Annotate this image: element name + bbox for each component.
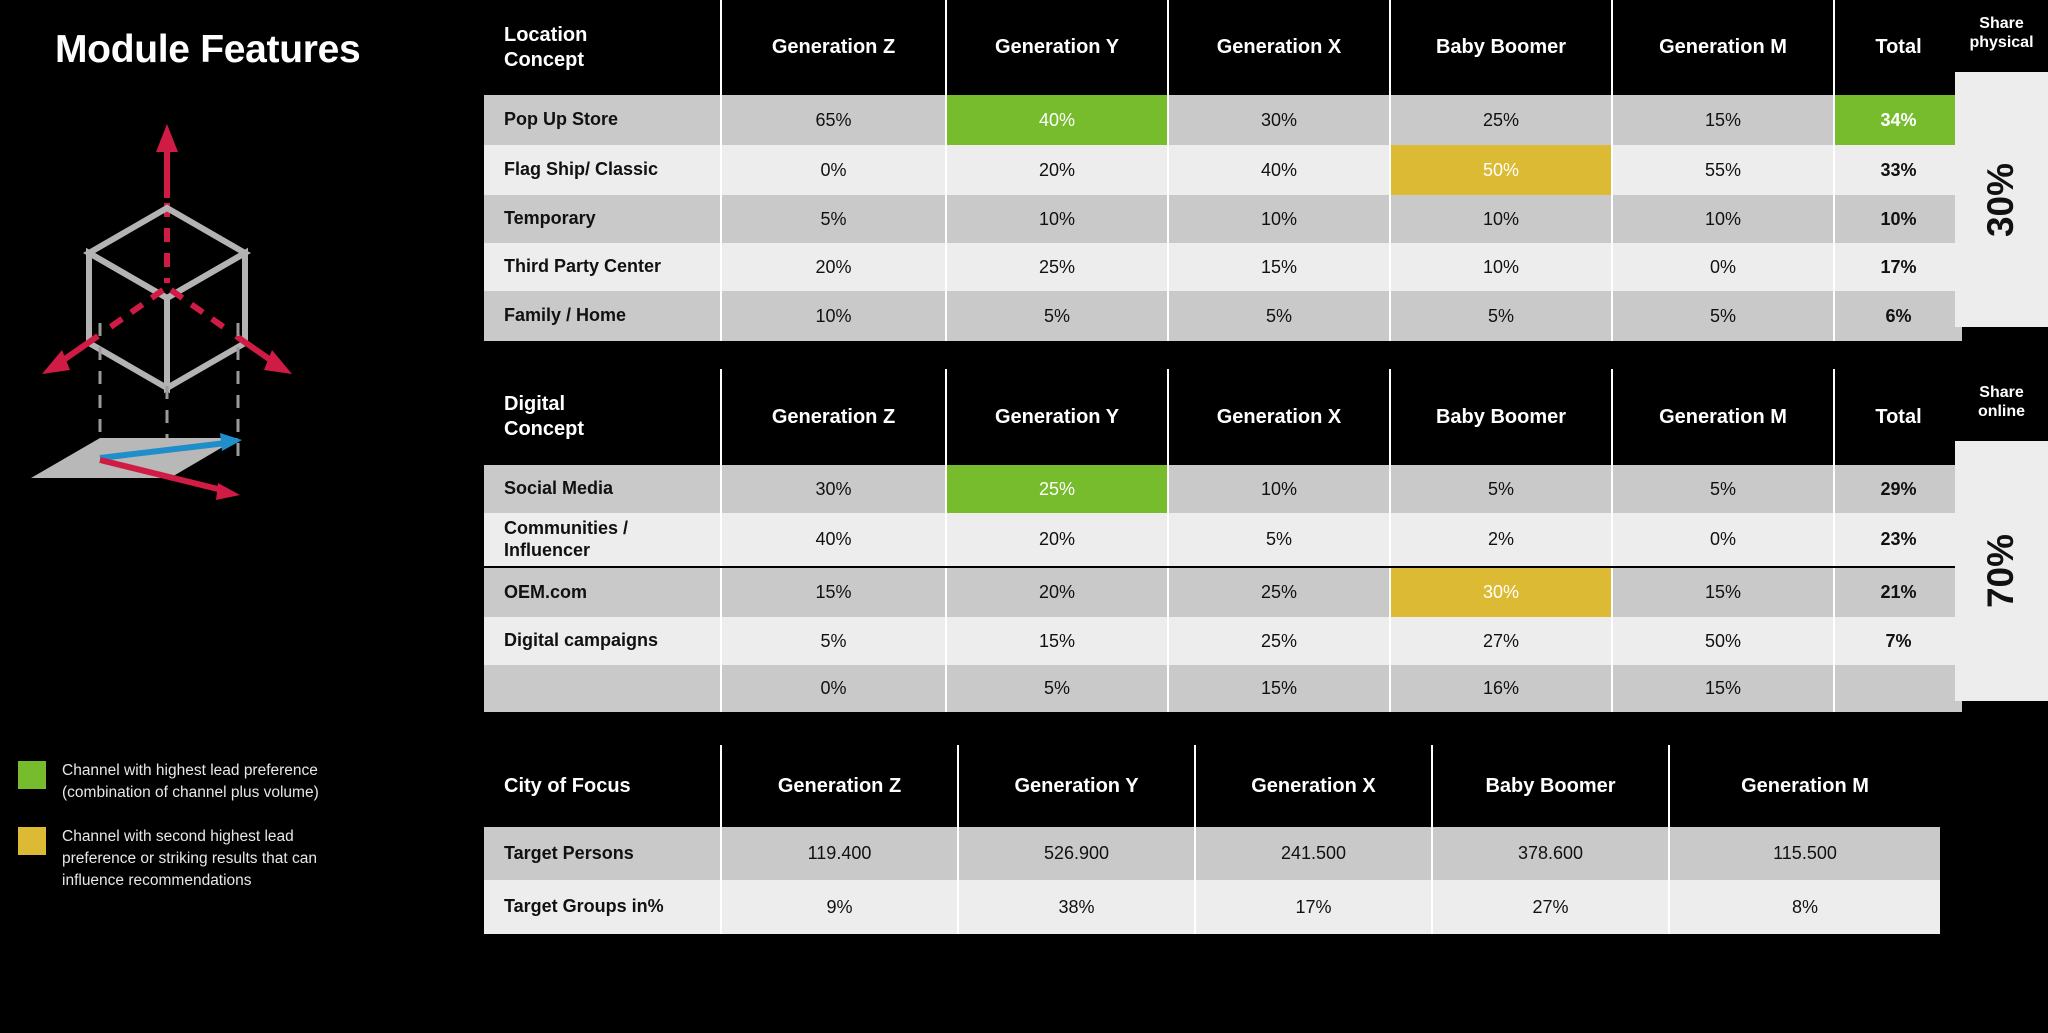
header-baby-boomer: Baby Boomer: [1390, 369, 1612, 465]
table-header-row: LocationConcept Generation Z Generation …: [484, 0, 1962, 95]
cell-generation-z: 65%: [721, 95, 946, 145]
row-label: Target Groups in%: [484, 880, 721, 934]
cell-total: 6%: [1834, 291, 1962, 341]
cell-generation-x: 241.500: [1195, 827, 1432, 880]
cell-baby-boomer: 50%: [1390, 145, 1612, 195]
cell-baby-boomer: 10%: [1390, 195, 1612, 243]
cell-generation-z: 119.400: [721, 827, 958, 880]
cell-generation-z: 0%: [721, 145, 946, 195]
table-row: 0% 5% 15% 16% 15%: [484, 665, 1962, 712]
cell-generation-y: 20%: [946, 567, 1168, 617]
isometric-module-cube-diagram: [30, 118, 330, 638]
cell-generation-x: 5%: [1168, 513, 1390, 567]
row-label: Third Party Center: [484, 243, 721, 291]
legend-swatch-green: [18, 761, 46, 789]
header-generation-x: Generation X: [1195, 745, 1432, 827]
header-generation-x: Generation X: [1168, 0, 1390, 95]
header-generation-y: Generation Y: [946, 0, 1168, 95]
header-baby-boomer: Baby Boomer: [1432, 745, 1669, 827]
cell-baby-boomer: 378.600: [1432, 827, 1669, 880]
cell-generation-x: 10%: [1168, 465, 1390, 513]
cell-generation-x: 25%: [1168, 567, 1390, 617]
table-row: Digital campaigns 5% 15% 25% 27% 50% 7%: [484, 617, 1962, 665]
row-label: Pop Up Store: [484, 95, 721, 145]
cell-total: 7%: [1834, 617, 1962, 665]
header-generation-y: Generation Y: [958, 745, 1195, 827]
cell-generation-y: 526.900: [958, 827, 1195, 880]
cube-left-face: [89, 253, 167, 388]
cell-generation-z: 10%: [721, 291, 946, 341]
cell-generation-y: 25%: [946, 465, 1168, 513]
axis-arrow-right-head: [264, 350, 292, 374]
table-row: Temporary 5% 10% 10% 10% 10% 10%: [484, 195, 1962, 243]
cell-generation-m: 0%: [1612, 243, 1834, 291]
header-total: Total: [1834, 0, 1962, 95]
cell-generation-x: 15%: [1168, 665, 1390, 712]
header-generation-z: Generation Z: [721, 369, 946, 465]
table-row: Social Media 30% 25% 10% 5% 5% 29%: [484, 465, 1962, 513]
header-generation-m: Generation M: [1612, 0, 1834, 95]
cell-generation-z: 20%: [721, 243, 946, 291]
row-label: Communities /Influencer: [484, 513, 721, 567]
header-city-of-focus: City of Focus: [484, 745, 721, 827]
cell-generation-m: 15%: [1612, 95, 1834, 145]
cell-total: 33%: [1834, 145, 1962, 195]
legend: Channel with highest lead preference (co…: [18, 760, 368, 914]
cell-generation-z: 9%: [721, 880, 958, 934]
cell-generation-y: 20%: [946, 513, 1168, 567]
axis-dashed-left: [102, 290, 163, 333]
cell-generation-x: 17%: [1195, 880, 1432, 934]
cell-total: 21%: [1834, 567, 1962, 617]
cell-generation-m: 5%: [1612, 465, 1834, 513]
legend-swatch-yellow: [18, 827, 46, 855]
row-label: [484, 665, 721, 712]
cell-total: 29%: [1834, 465, 1962, 513]
cell-generation-m: 10%: [1612, 195, 1834, 243]
header-generation-m: Generation M: [1669, 745, 1940, 827]
cell-generation-x: 5%: [1168, 291, 1390, 341]
cell-generation-y: 5%: [946, 291, 1168, 341]
cell-total: 17%: [1834, 243, 1962, 291]
cell-generation-z: 15%: [721, 567, 946, 617]
table-row: Target Groups in% 9% 38% 17% 27% 8%: [484, 880, 1940, 934]
row-label: Temporary: [484, 195, 721, 243]
share-online-panel: Shareonline 70%: [1955, 369, 2048, 724]
cell-generation-x: 40%: [1168, 145, 1390, 195]
cell-generation-m: 15%: [1612, 665, 1834, 712]
header-generation-z: Generation Z: [721, 0, 946, 95]
cell-generation-x: 25%: [1168, 617, 1390, 665]
cell-baby-boomer: 2%: [1390, 513, 1612, 567]
cell-generation-z: 5%: [721, 617, 946, 665]
cell-total: 10%: [1834, 195, 1962, 243]
table-row: OEM.com 15% 20% 25% 30% 15% 21%: [484, 567, 1962, 617]
header-generation-x: Generation X: [1168, 369, 1390, 465]
cell-generation-m: 115.500: [1669, 827, 1940, 880]
row-label: OEM.com: [484, 567, 721, 617]
cell-total: [1834, 665, 1962, 712]
header-total: Total: [1834, 369, 1962, 465]
cell-generation-y: 10%: [946, 195, 1168, 243]
cell-total: 23%: [1834, 513, 1962, 567]
header-digital-concept: DigitalConcept: [484, 369, 721, 465]
cell-baby-boomer: 16%: [1390, 665, 1612, 712]
header-generation-m: Generation M: [1612, 369, 1834, 465]
cell-baby-boomer: 5%: [1390, 465, 1612, 513]
header-generation-z: Generation Z: [721, 745, 958, 827]
table-row: Flag Ship/ Classic 0% 20% 40% 50% 55% 33…: [484, 145, 1962, 195]
cell-baby-boomer: 27%: [1432, 880, 1669, 934]
row-label: Flag Ship/ Classic: [484, 145, 721, 195]
axis-arrow-left-head: [42, 350, 70, 374]
share-physical-value-box: 30%: [1955, 72, 2048, 327]
cell-generation-m: 8%: [1669, 880, 1940, 934]
row-label: Target Persons: [484, 827, 721, 880]
cell-generation-m: 55%: [1612, 145, 1834, 195]
row-label: Social Media: [484, 465, 721, 513]
legend-label-green: Channel with highest lead preference (co…: [62, 760, 368, 804]
share-physical-label: Sharephysical: [1955, 0, 2048, 52]
header-generation-y: Generation Y: [946, 369, 1168, 465]
cell-generation-z: 30%: [721, 465, 946, 513]
axis-arrow-up-head: [156, 124, 178, 152]
share-online-label: Shareonline: [1955, 369, 2048, 421]
table-row: Family / Home 10% 5% 5% 5% 5% 6%: [484, 291, 1962, 341]
vector-red-head: [216, 483, 240, 500]
legend-item: Channel with highest lead preference (co…: [18, 760, 368, 804]
cell-baby-boomer: 27%: [1390, 617, 1612, 665]
cell-generation-y: 40%: [946, 95, 1168, 145]
table-row: Pop Up Store 65% 40% 30% 25% 15% 34%: [484, 95, 1962, 145]
cell-generation-m: 0%: [1612, 513, 1834, 567]
cell-generation-z: 0%: [721, 665, 946, 712]
header-location-concept: LocationConcept: [484, 0, 721, 95]
cell-generation-z: 40%: [721, 513, 946, 567]
cell-generation-m: 15%: [1612, 567, 1834, 617]
left-panel: Module Features: [0, 0, 370, 1033]
table-row: Target Persons 119.400 526.900 241.500 3…: [484, 827, 1940, 880]
table-location-concept: LocationConcept Generation Z Generation …: [484, 0, 1940, 341]
cell-generation-z: 5%: [721, 195, 946, 243]
legend-label-yellow: Channel with second highest lead prefere…: [62, 826, 368, 892]
legend-item: Channel with second highest lead prefere…: [18, 826, 368, 892]
cell-generation-y: 25%: [946, 243, 1168, 291]
table-header-row: City of Focus Generation Z Generation Y …: [484, 745, 1940, 827]
cell-baby-boomer: 25%: [1390, 95, 1612, 145]
cell-baby-boomer: 5%: [1390, 291, 1612, 341]
cell-baby-boomer: 10%: [1390, 243, 1612, 291]
cell-generation-x: 30%: [1168, 95, 1390, 145]
cell-generation-m: 5%: [1612, 291, 1834, 341]
table-city-of-focus: City of Focus Generation Z Generation Y …: [484, 745, 1940, 934]
cell-generation-y: 38%: [958, 880, 1195, 934]
share-online-value-box: 70%: [1955, 441, 2048, 701]
cell-generation-y: 15%: [946, 617, 1168, 665]
cell-generation-y: 20%: [946, 145, 1168, 195]
table-row: Communities /Influencer 40% 20% 5% 2% 0%…: [484, 513, 1962, 567]
table-digital-concept: DigitalConcept Generation Z Generation Y…: [484, 369, 1940, 712]
share-physical-value: 30%: [1981, 163, 2023, 237]
cube-right-face: [167, 253, 245, 388]
cell-generation-x: 15%: [1168, 243, 1390, 291]
row-label: Digital campaigns: [484, 617, 721, 665]
share-physical-panel: Sharephysical 30%: [1955, 0, 2048, 350]
cell-generation-m: 50%: [1612, 617, 1834, 665]
cell-baby-boomer: 30%: [1390, 567, 1612, 617]
page-title: Module Features: [55, 28, 360, 72]
share-online-value: 70%: [1981, 534, 2023, 608]
table-row: Third Party Center 20% 25% 15% 10% 0% 17…: [484, 243, 1962, 291]
cell-generation-x: 10%: [1168, 195, 1390, 243]
cell-generation-y: 5%: [946, 665, 1168, 712]
header-baby-boomer: Baby Boomer: [1390, 0, 1612, 95]
axis-dashed-right: [171, 290, 232, 333]
row-label: Family / Home: [484, 291, 721, 341]
table-header-row: DigitalConcept Generation Z Generation Y…: [484, 369, 1962, 465]
cell-total: 34%: [1834, 95, 1962, 145]
